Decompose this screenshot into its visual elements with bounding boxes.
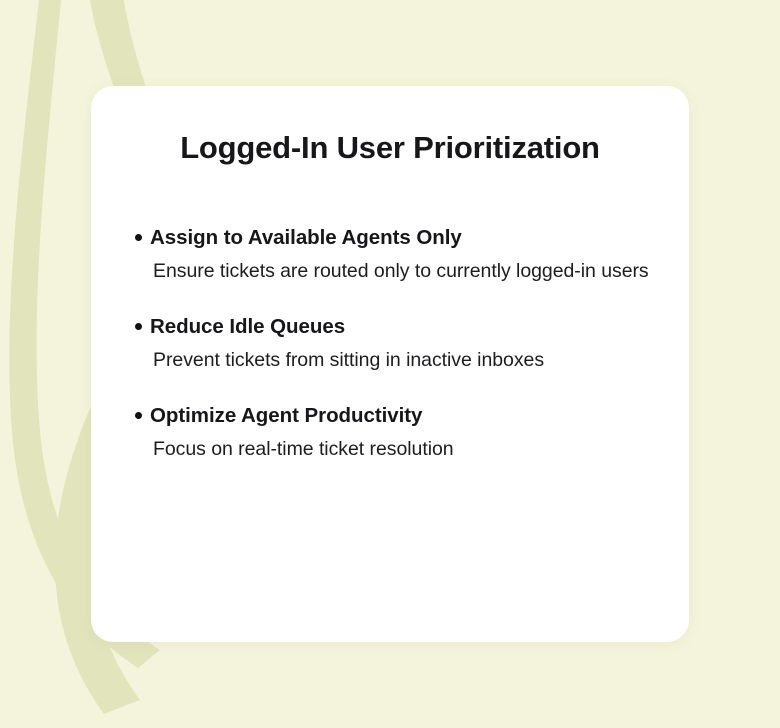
page-title: Logged-In User Prioritization [91,130,689,166]
bullet-heading: Optimize Agent Productivity [150,403,673,429]
bullet-description: Prevent tickets from sitting in inactive… [150,345,673,375]
bullet-point-icon [135,323,142,330]
bullet-list: Assign to Available Agents Only Ensure t… [91,225,689,464]
bullet-description: Ensure tickets are routed only to curren… [150,256,673,286]
list-item: Assign to Available Agents Only Ensure t… [91,225,689,286]
bullet-description: Focus on real-time ticket resolution [150,434,673,464]
content-card: Logged-In User Prioritization Assign to … [91,86,689,642]
bullet-heading: Assign to Available Agents Only [150,225,673,251]
list-item: Optimize Agent Productivity Focus on rea… [91,403,689,464]
list-item: Reduce Idle Queues Prevent tickets from … [91,314,689,375]
bullet-point-icon [135,234,142,241]
bullet-point-icon [135,412,142,419]
bullet-heading: Reduce Idle Queues [150,314,673,340]
